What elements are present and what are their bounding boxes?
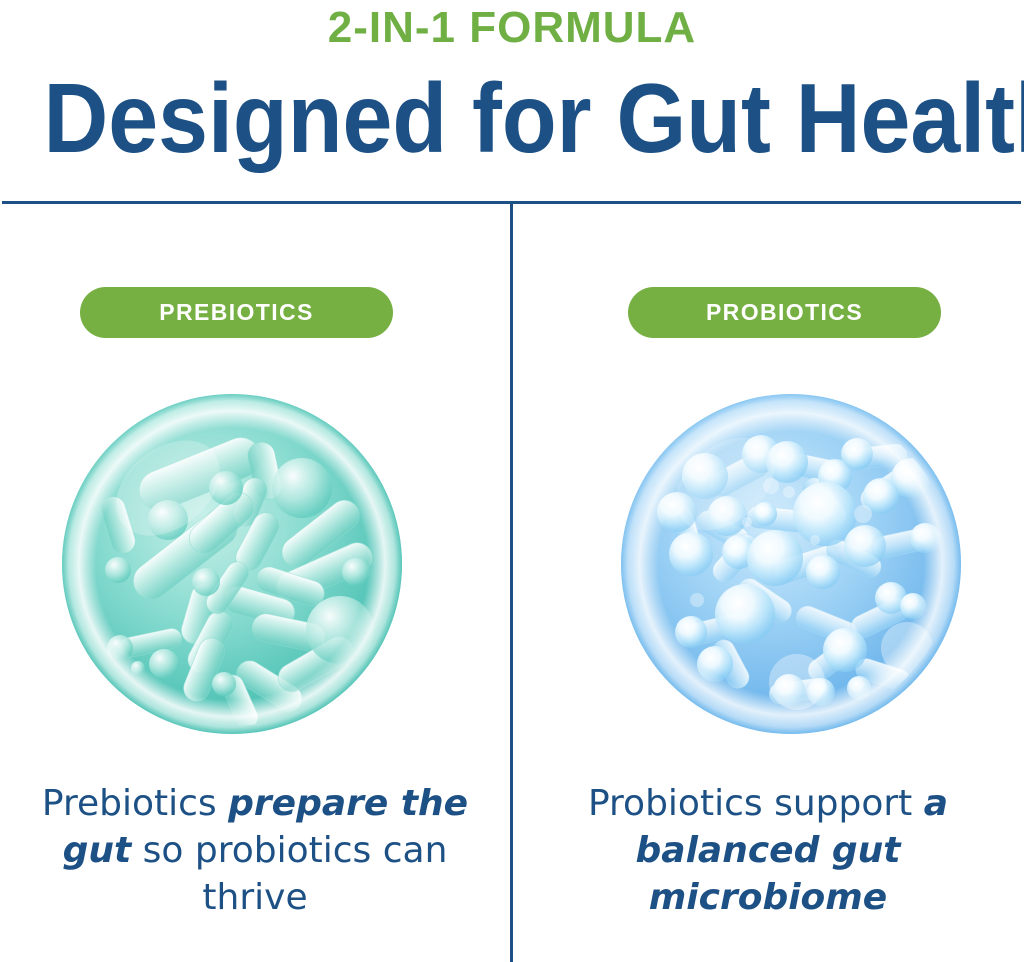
caption-prefix: Probiotics support [588, 783, 924, 824]
probiotics-sphere-illustration [619, 392, 963, 736]
page-title: Designed for Gut Health [44, 66, 981, 170]
badge-prebiotics: PREBIOTICS [80, 287, 393, 338]
column-probiotics: PROBIOTICS [513, 202, 1023, 962]
column-prebiotics: PREBIOTICS [0, 202, 510, 962]
infographic-page: 2-IN-1 FORMULA Designed for Gut Health P… [0, 0, 1024, 962]
caption-probiotics: Probiotics support a balanced gut microb… [533, 780, 1003, 921]
caption-suffix: so probiotics can thrive [131, 830, 447, 918]
prebiotics-sphere-illustration [60, 392, 404, 736]
caption-prefix: Prebiotics [42, 783, 228, 824]
eyebrow-heading: 2-IN-1 FORMULA [0, 2, 1024, 54]
caption-prebiotics: Prebiotics prepare the gut so probiotics… [20, 780, 490, 921]
badge-probiotics: PROBIOTICS [628, 287, 941, 338]
